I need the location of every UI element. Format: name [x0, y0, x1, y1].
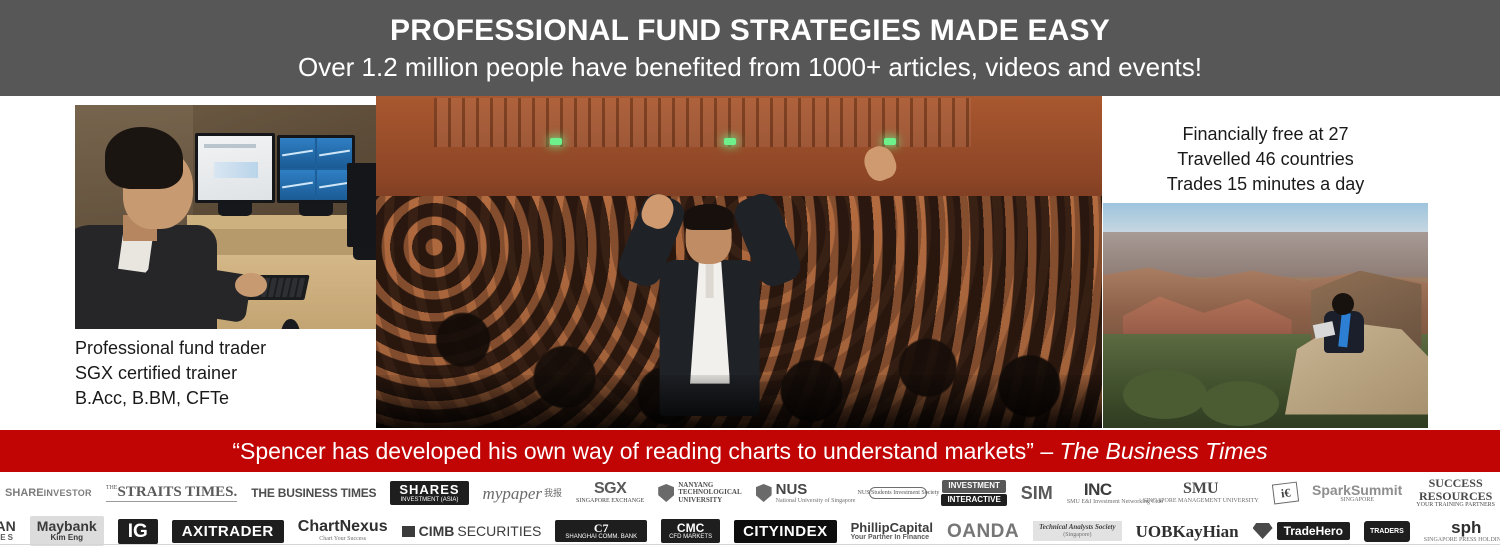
logo-shares-investment: SHARES INVESTMENT (ASIA)	[390, 481, 468, 505]
caption-left: Professional fund trader SGX certified t…	[75, 336, 375, 411]
logo-shares-sub: INVESTMENT (ASIA)	[401, 497, 459, 503]
logo-axitrader: AXITRADER	[172, 520, 284, 543]
logo-shareinvestor-accent: INVESTOR	[44, 489, 92, 498]
photo-crowd-speaker	[376, 96, 1102, 428]
logo-ig: IG	[118, 519, 158, 544]
logo-inco-sub: SMU E&I Investment Networking Club	[1067, 499, 1129, 505]
tradehero-shield-icon	[1253, 523, 1273, 539]
logo-smuic-main: i€	[1280, 486, 1291, 499]
logo-c7-sub: SHANGHAI COMM. BANK	[565, 534, 637, 540]
caption-right: Financially free at 27 Travelled 46 coun…	[1103, 122, 1428, 197]
logo-cmc-main: CMC	[677, 522, 704, 535]
logo-c7-main: C7	[594, 522, 609, 535]
logo-sgx: SGX SINGAPORE EXCHANGE	[576, 481, 644, 504]
logo-limtan-sub: SECURITIES	[0, 534, 15, 542]
caption-left-line-3: B.Acc, B.BM, CFTe	[75, 386, 375, 411]
logo-ntu-line-3: UNIVERSITY	[678, 497, 722, 504]
ntu-crest-icon	[658, 484, 674, 502]
logo-uob-accent: KayHian	[1172, 523, 1238, 540]
logo-maybank-main: Maybank	[37, 519, 97, 534]
logo-maybank-kim-eng: Maybank Kim Eng	[30, 516, 104, 545]
logo-sr-line-2: RESOURCES	[1419, 490, 1492, 503]
logo-mypaper-sub: 我报	[544, 489, 562, 498]
logo-phillip-main: PhillipCapital	[851, 521, 933, 535]
person-on-rock	[1320, 293, 1376, 365]
caption-left-line-1: Professional fund trader	[75, 336, 375, 361]
logo-sph-main: sph	[1451, 519, 1481, 537]
trader-person	[75, 127, 219, 329]
logo-ntu: NANYANG TECHNOLOGICAL UNIVERSITY	[658, 482, 741, 504]
page-subtitle: Over 1.2 million people have benefited f…	[298, 51, 1202, 83]
monitor-center	[277, 135, 355, 203]
nus-crest-icon	[756, 484, 772, 502]
logo-nus-main: NUS	[776, 482, 808, 498]
logo-axitrader-main: AXITRADER	[172, 520, 284, 543]
bush-1	[1123, 370, 1208, 420]
quote-banner: “Spencer has developed his own way of re…	[0, 430, 1500, 472]
logo-row-2: LIM & TAN SECURITIES Maybank Kim Eng IG …	[0, 514, 1500, 548]
logo-sgx-sub: SINGAPORE EXCHANGE	[576, 498, 644, 504]
logo-cimb-securities: CIMBSECURITIES	[402, 524, 542, 538]
logo-tasn-main: Technical Analysts Society	[1039, 524, 1115, 531]
quote-body: “Spencer has developed his own way of re…	[232, 438, 1059, 464]
logo-inco-main: INC	[1084, 481, 1112, 499]
logo-cmc-markets: CMC CFD MARKETS	[661, 519, 720, 544]
caption-right-line-1: Financially free at 27	[1103, 122, 1428, 147]
logo-sr-sub: YOUR TRAINING PARTNERS	[1416, 502, 1495, 508]
logo-nus-students-investment-society: NUS Students Investment Society	[869, 487, 927, 500]
logo-chartnexus-main: ChartNexus	[298, 519, 388, 536]
promo-banner: PROFESSIONAL FUND STRATEGIES MADE EASY O…	[0, 0, 1500, 549]
logo-oanda-main: OANDA	[947, 522, 1019, 541]
logo-chartnexus-sub: Chart Your Success	[319, 536, 366, 542]
logo-sph: sph SINGAPORE PRESS HOLDINGS	[1424, 519, 1500, 543]
logo-smu-sub: SINGAPORE MANAGEMENT UNIVERSITY	[1143, 498, 1259, 504]
logo-cmc-sub: CFD MARKETS	[669, 534, 712, 540]
logo-uob-main: UOB	[1136, 523, 1173, 540]
logo-sr-line-1: SUCCESS	[1429, 477, 1483, 490]
stage-light-2	[724, 138, 736, 145]
logo-cimb-accent: SECURITIES	[457, 524, 541, 538]
logo-straits-times-main: STRAITS TIMES.	[117, 485, 237, 500]
caption-left-line-2: SGX certified trainer	[75, 361, 375, 386]
logo-tasn-sub: (Singapore)	[1063, 532, 1091, 538]
logo-phillipcapital: PhillipCapital Your Partner In Finance	[851, 521, 933, 542]
logo-spark-summit: SparkSummit SINGAPORE	[1312, 483, 1402, 504]
logo-the-business-times-main: THE BUSINESS TIMES	[251, 487, 376, 499]
logo-ii-line-2: INTERACTIVE	[941, 494, 1006, 506]
logo-straits-times-pre: THE	[106, 485, 118, 491]
logo-uob-kay-hian: UOBKayHian	[1136, 523, 1239, 540]
logo-sph-sub: SINGAPORE PRESS HOLDINGS	[1424, 537, 1500, 543]
logo-the-business-times: THE BUSINESS TIMES	[251, 487, 376, 499]
logo-shareinvestor: SHAREINVESTOR	[5, 488, 92, 499]
logo-phillip-sub: Your Partner In Finance	[851, 534, 929, 541]
logo-tradehero: TradeHero	[1253, 522, 1350, 540]
partner-logo-strip: SHAREINVESTOR THESTRAITS TIMES. THE BUSI…	[0, 472, 1500, 547]
logo-cimb-main: CIMB	[419, 524, 455, 538]
logo-smu-investment-club: i€	[1272, 482, 1300, 505]
logo-nusis-main: NUS Students Investment Society	[858, 490, 940, 497]
logo-traders-fair: TRADERS	[1364, 521, 1410, 542]
caption-right-line-3: Trades 15 minutes a day	[1103, 172, 1428, 197]
logo-tradehero-main: TradeHero	[1277, 522, 1350, 540]
bush-2	[1201, 381, 1279, 426]
caption-right-line-2: Travelled 46 countries	[1103, 147, 1428, 172]
page-title: PROFESSIONAL FUND STRATEGIES MADE EASY	[390, 14, 1110, 48]
logo-lim-and-tan-securities: LIM & TAN SECURITIES	[0, 519, 16, 542]
cimb-mark-icon	[402, 526, 415, 537]
logo-nus: NUS National University of Singapore	[756, 482, 856, 504]
logo-maybank-sub: Kim Eng	[51, 534, 83, 542]
logo-smu-main: SMU	[1183, 481, 1219, 498]
photo-canyon	[1103, 203, 1428, 428]
logo-straits-times: THESTRAITS TIMES.	[106, 485, 237, 502]
logo-c7-shanghai-commercial-bank: C7 SHANGHAI COMM. BANK	[555, 520, 647, 543]
logo-limtan-main: LIM & TAN	[0, 519, 16, 534]
logo-mypaper-main: mypaper	[483, 485, 542, 502]
stage-light-1	[550, 138, 562, 145]
logo-sim-main: SIM	[1021, 484, 1053, 502]
logo-success-resources: SUCCESS RESOURCES YOUR TRAINING PARTNERS	[1416, 477, 1495, 508]
logo-investment-interactive: INVESTMENT INTERACTIVE	[941, 480, 1006, 506]
logo-spark-main: SparkSummit	[1312, 483, 1402, 498]
logo-sgx-main: SGX	[594, 481, 626, 498]
logo-row-1: SHAREINVESTOR THESTRAITS TIMES. THE BUSI…	[0, 476, 1500, 510]
header-band: PROFESSIONAL FUND STRATEGIES MADE EASY O…	[0, 0, 1500, 96]
strip-bottom-rule	[0, 544, 1500, 545]
logo-shareinvestor-main: SHARE	[5, 488, 44, 499]
logo-technical-analysts-society: Technical Analysts Society (Singapore)	[1033, 521, 1121, 541]
logo-traders-main: TRADERS	[1364, 521, 1410, 542]
quote-text: “Spencer has developed his own way of re…	[232, 438, 1267, 464]
logo-sim: SIM	[1021, 484, 1053, 502]
logo-ii-line-1: INVESTMENT	[942, 480, 1006, 492]
photo-trader	[75, 105, 376, 329]
stage-light-3	[884, 138, 896, 145]
logo-oanda: OANDA	[947, 522, 1019, 541]
logo-nus-sub: National University of Singapore	[776, 498, 856, 504]
logo-inco: INC SMU E&I Investment Networking Club	[1067, 481, 1129, 505]
crowd-foreground-shadow	[376, 375, 1102, 428]
logo-ig-main: IG	[118, 519, 158, 544]
logo-cityindex: CITYINDEX	[734, 520, 837, 543]
logo-smu: SMU SINGAPORE MANAGEMENT UNIVERSITY	[1143, 481, 1259, 504]
logo-shares-main: SHARES	[399, 483, 459, 497]
logo-chartnexus: ChartNexus Chart Your Success	[298, 519, 388, 542]
logo-spark-sub: SINGAPORE	[1340, 497, 1374, 503]
logo-cityindex-main: CITYINDEX	[734, 520, 837, 543]
monitor-right	[347, 163, 376, 247]
logo-mypaper: mypaper我报	[483, 485, 563, 502]
quote-source: The Business Times	[1060, 438, 1268, 464]
